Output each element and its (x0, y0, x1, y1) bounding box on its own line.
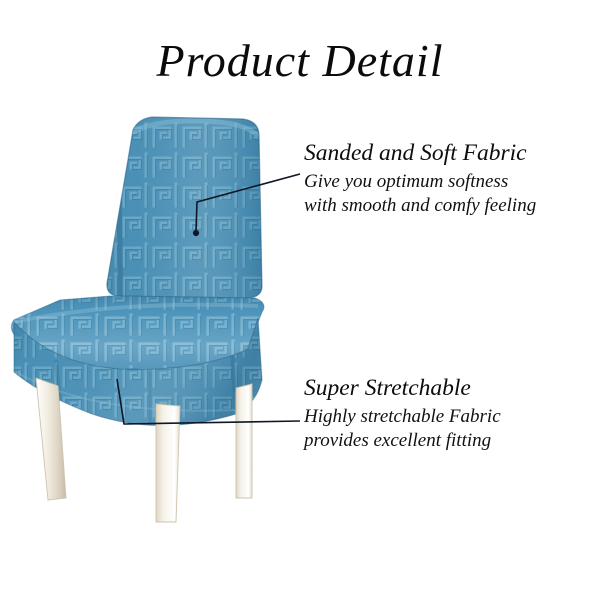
chair-product-image (0, 0, 600, 600)
annotation-body-line: provides excellent fitting (304, 429, 501, 453)
chair-backrest (100, 110, 275, 305)
annotation-body-line: Highly stretchable Fabric (304, 405, 501, 429)
annotation-sanded-soft-fabric: Sanded and Soft Fabric Give you optimum … (304, 140, 536, 218)
annotation-body: Highly stretchable Fabric provides excel… (304, 405, 501, 453)
chair-leg-front-right (156, 404, 180, 522)
product-detail-page: Product Detail (0, 0, 600, 600)
chair-leg-front-far-right (236, 384, 252, 498)
annotation-body-line: Give you optimum softness (304, 170, 536, 194)
annotation-body: Give you optimum softness with smooth an… (304, 170, 536, 218)
annotation-heading: Sanded and Soft Fabric (304, 140, 536, 166)
annotation-super-stretchable: Super Stretchable Highly stretchable Fab… (304, 375, 501, 453)
annotation-body-line: with smooth and comfy feeling (304, 194, 536, 218)
leader-endpoint-dot (193, 230, 199, 236)
annotation-heading: Super Stretchable (304, 375, 501, 401)
